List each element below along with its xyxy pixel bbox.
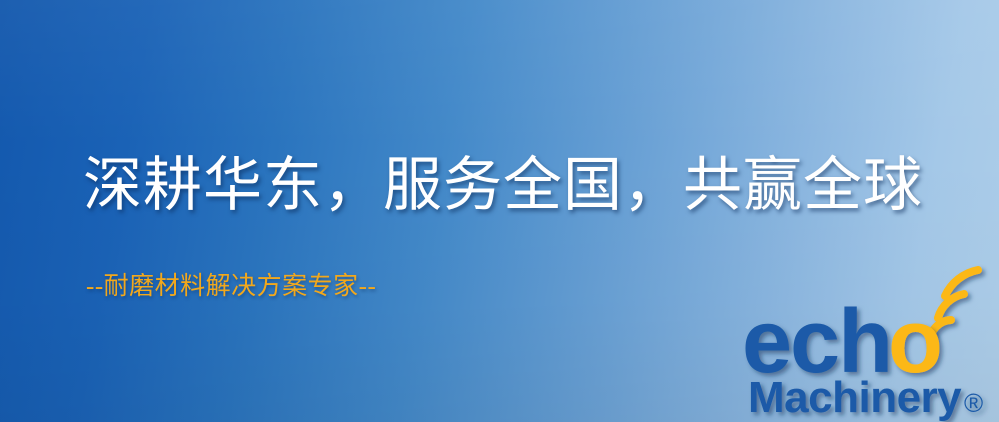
- banner-subtitle: --耐磨材料解决方案专家--: [86, 266, 376, 302]
- echo-machinery-logo: ech o Machinery ®: [742, 292, 994, 420]
- banner-headline: 深耕华东，服务全国，共赢全球: [83, 155, 923, 215]
- logo-registered-mark: ®: [964, 388, 983, 418]
- logo-text-machinery: Machinery: [748, 373, 962, 422]
- logo-artwork: ech o Machinery ®: [742, 292, 994, 420]
- logo-wordmark-machinery: Machinery ®: [748, 373, 983, 422]
- promo-banner: 深耕华东，服务全国，共赢全球 --耐磨材料解决方案专家-- ech o: [0, 0, 999, 422]
